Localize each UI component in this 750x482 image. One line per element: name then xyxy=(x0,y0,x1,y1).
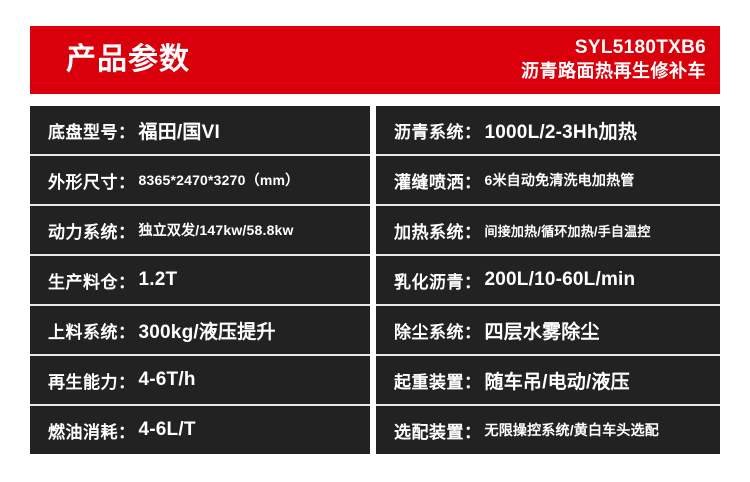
spec-row: 底盘型号： 福田/国VI xyxy=(30,106,370,154)
spec-label: 燃油消耗： xyxy=(48,418,136,443)
spec-value: 300kg/液压提升 xyxy=(139,317,276,344)
spec-row: 外形尺寸： 8365*2470*3270（mm） xyxy=(30,154,370,204)
spec-row: 动力系统： 独立双发/147kw/58.8kw xyxy=(30,204,370,254)
spec-value: 福田/国VI xyxy=(139,117,220,144)
spec-row: 燃油消耗： 4-6L/T xyxy=(30,404,370,454)
spec-label: 乳化沥青： xyxy=(394,268,482,293)
page-title: 产品参数 xyxy=(66,40,190,80)
spec-label: 再生能力： xyxy=(48,368,136,393)
spec-label: 灌缝喷洒： xyxy=(394,168,482,193)
spec-row: 除尘系统： 四层水雾除尘 xyxy=(376,304,720,354)
product-name-subtitle: 沥青路面热再生修补车 xyxy=(521,59,706,83)
spec-value: 独立双发/147kw/58.8kw xyxy=(139,220,294,240)
spec-label: 外形尺寸： xyxy=(48,168,136,193)
spec-value: 1.2T xyxy=(139,269,178,291)
spec-value: 4-6T/h xyxy=(139,369,196,391)
spec-label: 沥青系统： xyxy=(394,118,482,143)
spec-value: 6米自动免清洗电加热管 xyxy=(485,170,635,190)
product-params-header-banner: 产品参数 SYL5180TXB6 沥青路面热再生修补车 xyxy=(30,26,720,94)
spec-value: 四层水雾除尘 xyxy=(485,317,600,344)
spec-value: 8365*2470*3270（mm） xyxy=(139,170,300,190)
spec-label: 底盘型号： xyxy=(48,118,136,143)
spec-row: 生产料仓： 1.2T xyxy=(30,254,370,304)
header-model-block: SYL5180TXB6 沥青路面热再生修补车 xyxy=(521,36,706,83)
spec-label: 上料系统： xyxy=(48,318,136,343)
spec-value: 4-6L/T xyxy=(139,419,196,441)
spec-row: 沥青系统： 1000L/2-3Hh加热 xyxy=(376,106,720,154)
spec-column-left: 底盘型号： 福田/国VI 外形尺寸： 8365*2470*3270（mm） 动力… xyxy=(30,106,370,454)
spec-value: 无限操控系统/黄白车头选配 xyxy=(485,420,660,440)
spec-value: 随车吊/电动/液压 xyxy=(485,367,630,394)
spec-row: 起重装置： 随车吊/电动/液压 xyxy=(376,354,720,404)
spec-row: 选配装置： 无限操控系统/黄白车头选配 xyxy=(376,404,720,454)
spec-table: 底盘型号： 福田/国VI 外形尺寸： 8365*2470*3270（mm） 动力… xyxy=(30,106,720,454)
spec-value: 200L/10-60L/min xyxy=(485,269,636,291)
spec-column-right: 沥青系统： 1000L/2-3Hh加热 灌缝喷洒： 6米自动免清洗电加热管 加热… xyxy=(376,106,720,454)
spec-row: 加热系统： 间接加热/循环加热/手自温控 xyxy=(376,204,720,254)
spec-row: 乳化沥青： 200L/10-60L/min xyxy=(376,254,720,304)
spec-label: 加热系统： xyxy=(394,218,482,243)
spec-value: 间接加热/循环加热/手自温控 xyxy=(485,221,651,240)
spec-label: 选配装置： xyxy=(394,418,482,443)
spec-label: 动力系统： xyxy=(48,218,136,243)
spec-value: 1000L/2-3Hh加热 xyxy=(485,117,638,144)
product-spec-page: 产品参数 SYL5180TXB6 沥青路面热再生修补车 底盘型号： 福田/国VI… xyxy=(0,0,750,482)
spec-label: 起重装置： xyxy=(394,368,482,393)
spec-label: 生产料仓： xyxy=(48,268,136,293)
product-model-number: SYL5180TXB6 xyxy=(521,36,706,59)
spec-row: 灌缝喷洒： 6米自动免清洗电加热管 xyxy=(376,154,720,204)
spec-row: 再生能力： 4-6T/h xyxy=(30,354,370,404)
spec-row: 上料系统： 300kg/液压提升 xyxy=(30,304,370,354)
spec-label: 除尘系统： xyxy=(394,318,482,343)
